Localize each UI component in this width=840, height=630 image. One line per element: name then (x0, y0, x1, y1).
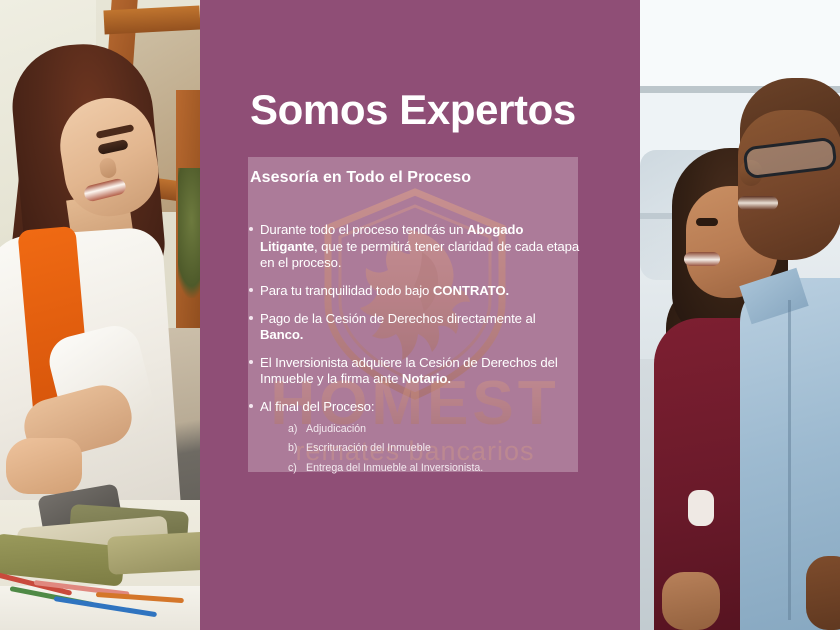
bullet-text-emphasis: Banco. (260, 327, 303, 342)
bullet-text: Al final del Proceso:a)Adjudicaciónb)Esc… (260, 399, 582, 475)
bullet-item: Pago de la Cesión de Derechos directamen… (246, 311, 582, 344)
page-title: Somos Expertos (250, 88, 630, 132)
bullet-text-segment: Durante todo el proceso tendrás un (260, 222, 467, 237)
photo-window-pane-top (640, 0, 840, 86)
slide: Somos Expertos HOMEST remates bancarios (0, 0, 840, 630)
photo-fabric-swatch-tan (107, 531, 200, 575)
sublist-marker: a) (260, 423, 306, 436)
bullet-text-emphasis: CONTRATO. (433, 283, 509, 298)
photo-woman-hands (662, 572, 720, 630)
bullet-marker-icon (246, 222, 260, 272)
bullet-marker-icon (246, 283, 260, 300)
bullet-marker-icon (246, 311, 260, 344)
bullet-text-segment: Para tu tranquilidad todo bajo (260, 283, 433, 298)
bullet-text: Pago de la Cesión de Derechos directamen… (260, 311, 582, 344)
bullet-text: El Inversionista adquiere la Cesión de D… (260, 355, 582, 388)
photo-hand (6, 438, 82, 494)
bullet-marker-icon (246, 399, 260, 475)
bullet-text: Para tu tranquilidad todo bajo CONTRATO. (260, 283, 582, 300)
photo-woman-smile (684, 252, 720, 266)
photo-woman-belt-knot (688, 490, 714, 526)
sublist-marker: c) (260, 462, 306, 475)
bullet-text: Durante todo el proceso tendrás un Aboga… (260, 222, 582, 272)
sublist-item: c)Entrega del Inmueble al Inversionista. (260, 462, 582, 475)
bullet-item: Durante todo el proceso tendrás un Aboga… (246, 222, 582, 272)
bullet-list: Durante todo el proceso tendrás un Aboga… (246, 222, 582, 486)
sublist-text: Escrituración del Inmueble (306, 442, 582, 455)
bullet-text-emphasis: Notario. (402, 371, 451, 386)
bullet-text-segment: Pago de la Cesión de Derechos directamen… (260, 311, 536, 326)
photo-shirt-seam (788, 300, 791, 620)
photo-plant (178, 168, 200, 298)
photo-man-arm (806, 556, 840, 630)
bullet-marker-icon (246, 355, 260, 388)
photo-man-smile (738, 196, 778, 210)
section-subtitle: Asesoría en Todo el Proceso (250, 169, 580, 187)
bullet-item: El Inversionista adquiere la Cesión de D… (246, 355, 582, 388)
sublist-text: Entrega del Inmueble al Inversionista. (306, 462, 582, 475)
sublist-marker: b) (260, 442, 306, 455)
bullet-item: Al final del Proceso:a)Adjudicaciónb)Esc… (246, 399, 582, 475)
bullet-item: Para tu tranquilidad todo bajo CONTRATO. (246, 283, 582, 300)
bullet-text-segment: Al final del Proceso: (260, 399, 374, 414)
photo-window-frame-top (103, 6, 200, 35)
sublist-item: b)Escrituración del Inmueble (260, 442, 582, 455)
sublist-item: a)Adjudicación (260, 423, 582, 436)
photo-woman-eye (696, 218, 718, 226)
two-colleagues-by-window-photo (640, 0, 840, 630)
woman-reviewing-fabric-samples-photo (0, 0, 200, 630)
sublist-text: Adjudicación (306, 423, 582, 436)
bullet-sublist: a)Adjudicaciónb)Escrituración del Inmueb… (260, 423, 582, 475)
